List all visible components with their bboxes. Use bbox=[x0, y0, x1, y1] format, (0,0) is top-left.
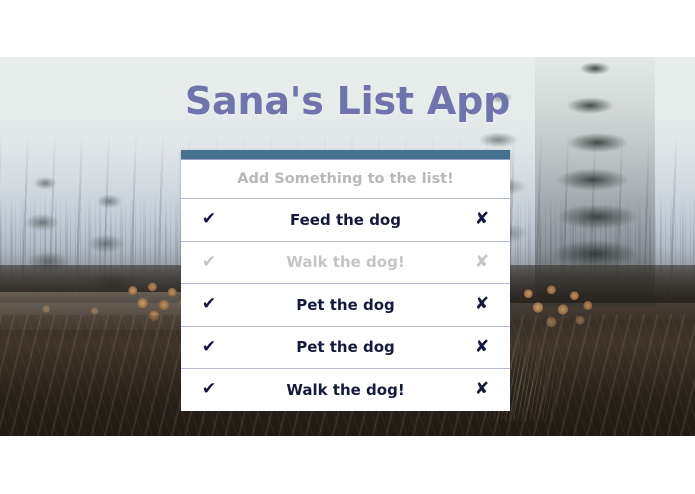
delete-icon[interactable]: ✘ bbox=[460, 339, 504, 356]
todo-label: Pet the dog bbox=[231, 338, 460, 356]
page-title: Sana's List App bbox=[0, 79, 695, 123]
check-icon[interactable]: ✔ bbox=[187, 254, 231, 271]
add-item-row[interactable] bbox=[181, 160, 510, 199]
check-icon[interactable]: ✔ bbox=[187, 211, 231, 228]
table-row[interactable]: ✔ Walk the dog! ✘ bbox=[181, 369, 510, 411]
todo-label: Pet the dog bbox=[231, 296, 460, 314]
table-row[interactable]: ✔ Feed the dog ✘ bbox=[181, 199, 510, 242]
todo-label: Walk the dog! bbox=[231, 253, 460, 271]
delete-icon[interactable]: ✘ bbox=[460, 381, 504, 398]
app-screenshot: Sana's List App ✔ Feed the dog ✘ ✔ Walk … bbox=[0, 0, 695, 494]
add-item-input[interactable] bbox=[181, 159, 510, 199]
table-row[interactable]: ✔ Pet the dog ✘ bbox=[181, 327, 510, 370]
todo-label: Feed the dog bbox=[231, 211, 460, 229]
table-row[interactable]: ✔ Pet the dog ✘ bbox=[181, 284, 510, 327]
table-row[interactable]: ✔ Walk the dog! ✘ bbox=[181, 242, 510, 285]
check-icon[interactable]: ✔ bbox=[187, 339, 231, 356]
todo-card: ✔ Feed the dog ✘ ✔ Walk the dog! ✘ ✔ Pet… bbox=[181, 150, 510, 411]
check-icon[interactable]: ✔ bbox=[187, 296, 231, 313]
delete-icon[interactable]: ✘ bbox=[460, 254, 504, 271]
delete-icon[interactable]: ✘ bbox=[460, 296, 504, 313]
delete-icon[interactable]: ✘ bbox=[460, 211, 504, 228]
todo-label: Walk the dog! bbox=[231, 381, 460, 399]
check-icon[interactable]: ✔ bbox=[187, 381, 231, 398]
